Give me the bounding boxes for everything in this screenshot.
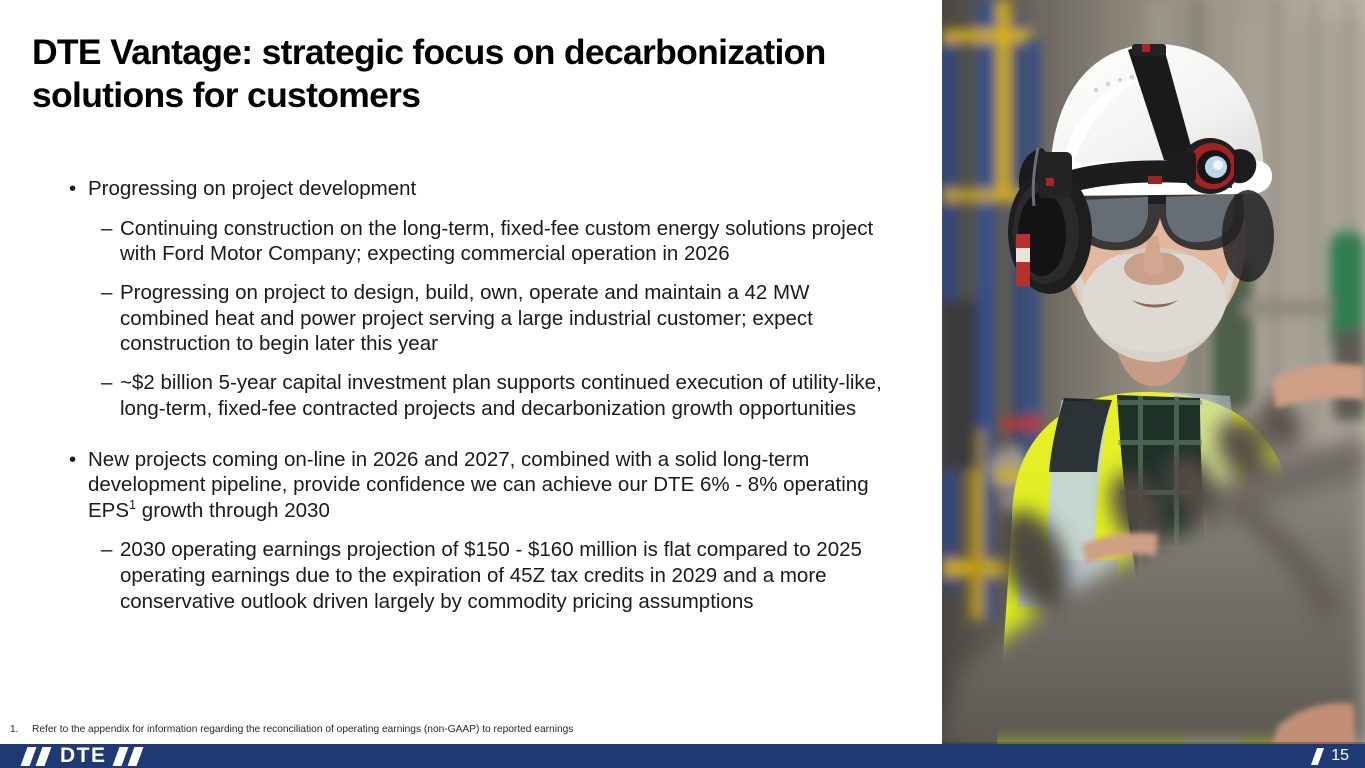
- sub-bullet-text: Progressing on project to design, build,…: [120, 281, 813, 355]
- bullet-marker: •: [69, 447, 76, 473]
- footnote-text: Refer to the appendix for information re…: [32, 724, 573, 735]
- logo-slash-icon: [112, 747, 128, 766]
- sub-bullet-item: – ~$2 billion 5-year capital investment …: [0, 370, 900, 421]
- footnote-number: 1.: [10, 723, 32, 737]
- bullet-list: • Progressing on project development – C…: [0, 176, 900, 627]
- sub-bullet-marker: –: [101, 216, 112, 242]
- logo-slash-icon: [36, 747, 52, 766]
- sub-bullet-item: – Progressing on project to design, buil…: [0, 280, 900, 357]
- bullet-text-after-footnote-ref: growth through 2030: [136, 499, 330, 522]
- logo-slash-icon: [127, 747, 143, 766]
- page-number-group: 15: [1314, 745, 1349, 767]
- sub-bullet-item: – Continuing construction on the long-te…: [0, 216, 900, 267]
- footer-bar: [0, 744, 1365, 768]
- worker-photo: [942, 0, 1365, 746]
- sub-bullet-text: Continuing construction on the long-term…: [120, 217, 873, 266]
- spacer: [0, 435, 900, 447]
- slide: DTE Vantage: strategic focus on decarbon…: [0, 0, 1365, 768]
- sub-bullet-marker: –: [101, 280, 112, 306]
- bullet-item: • Progressing on project development: [0, 176, 878, 202]
- bullet-item: • New projects coming on-line in 2026 an…: [0, 447, 878, 524]
- logo-wordmark: DTE: [60, 745, 107, 767]
- footnote: 1.Refer to the appendix for information …: [10, 723, 910, 737]
- sub-bullet-marker: –: [101, 537, 112, 563]
- bullet-marker: •: [69, 176, 76, 202]
- page-title: DTE Vantage: strategic focus on decarbon…: [32, 31, 892, 117]
- dte-logo: DTE: [24, 745, 146, 767]
- sub-bullet-text: ~$2 billion 5-year capital investment pl…: [120, 371, 882, 420]
- sub-bullet-marker: –: [101, 370, 112, 396]
- sub-bullet-item: – 2030 operating earnings projection of …: [0, 537, 900, 614]
- page-number: 15: [1331, 745, 1349, 767]
- sub-bullet-text: 2030 operating earnings projection of $1…: [120, 538, 862, 612]
- bullet-text: Progressing on project development: [88, 177, 416, 200]
